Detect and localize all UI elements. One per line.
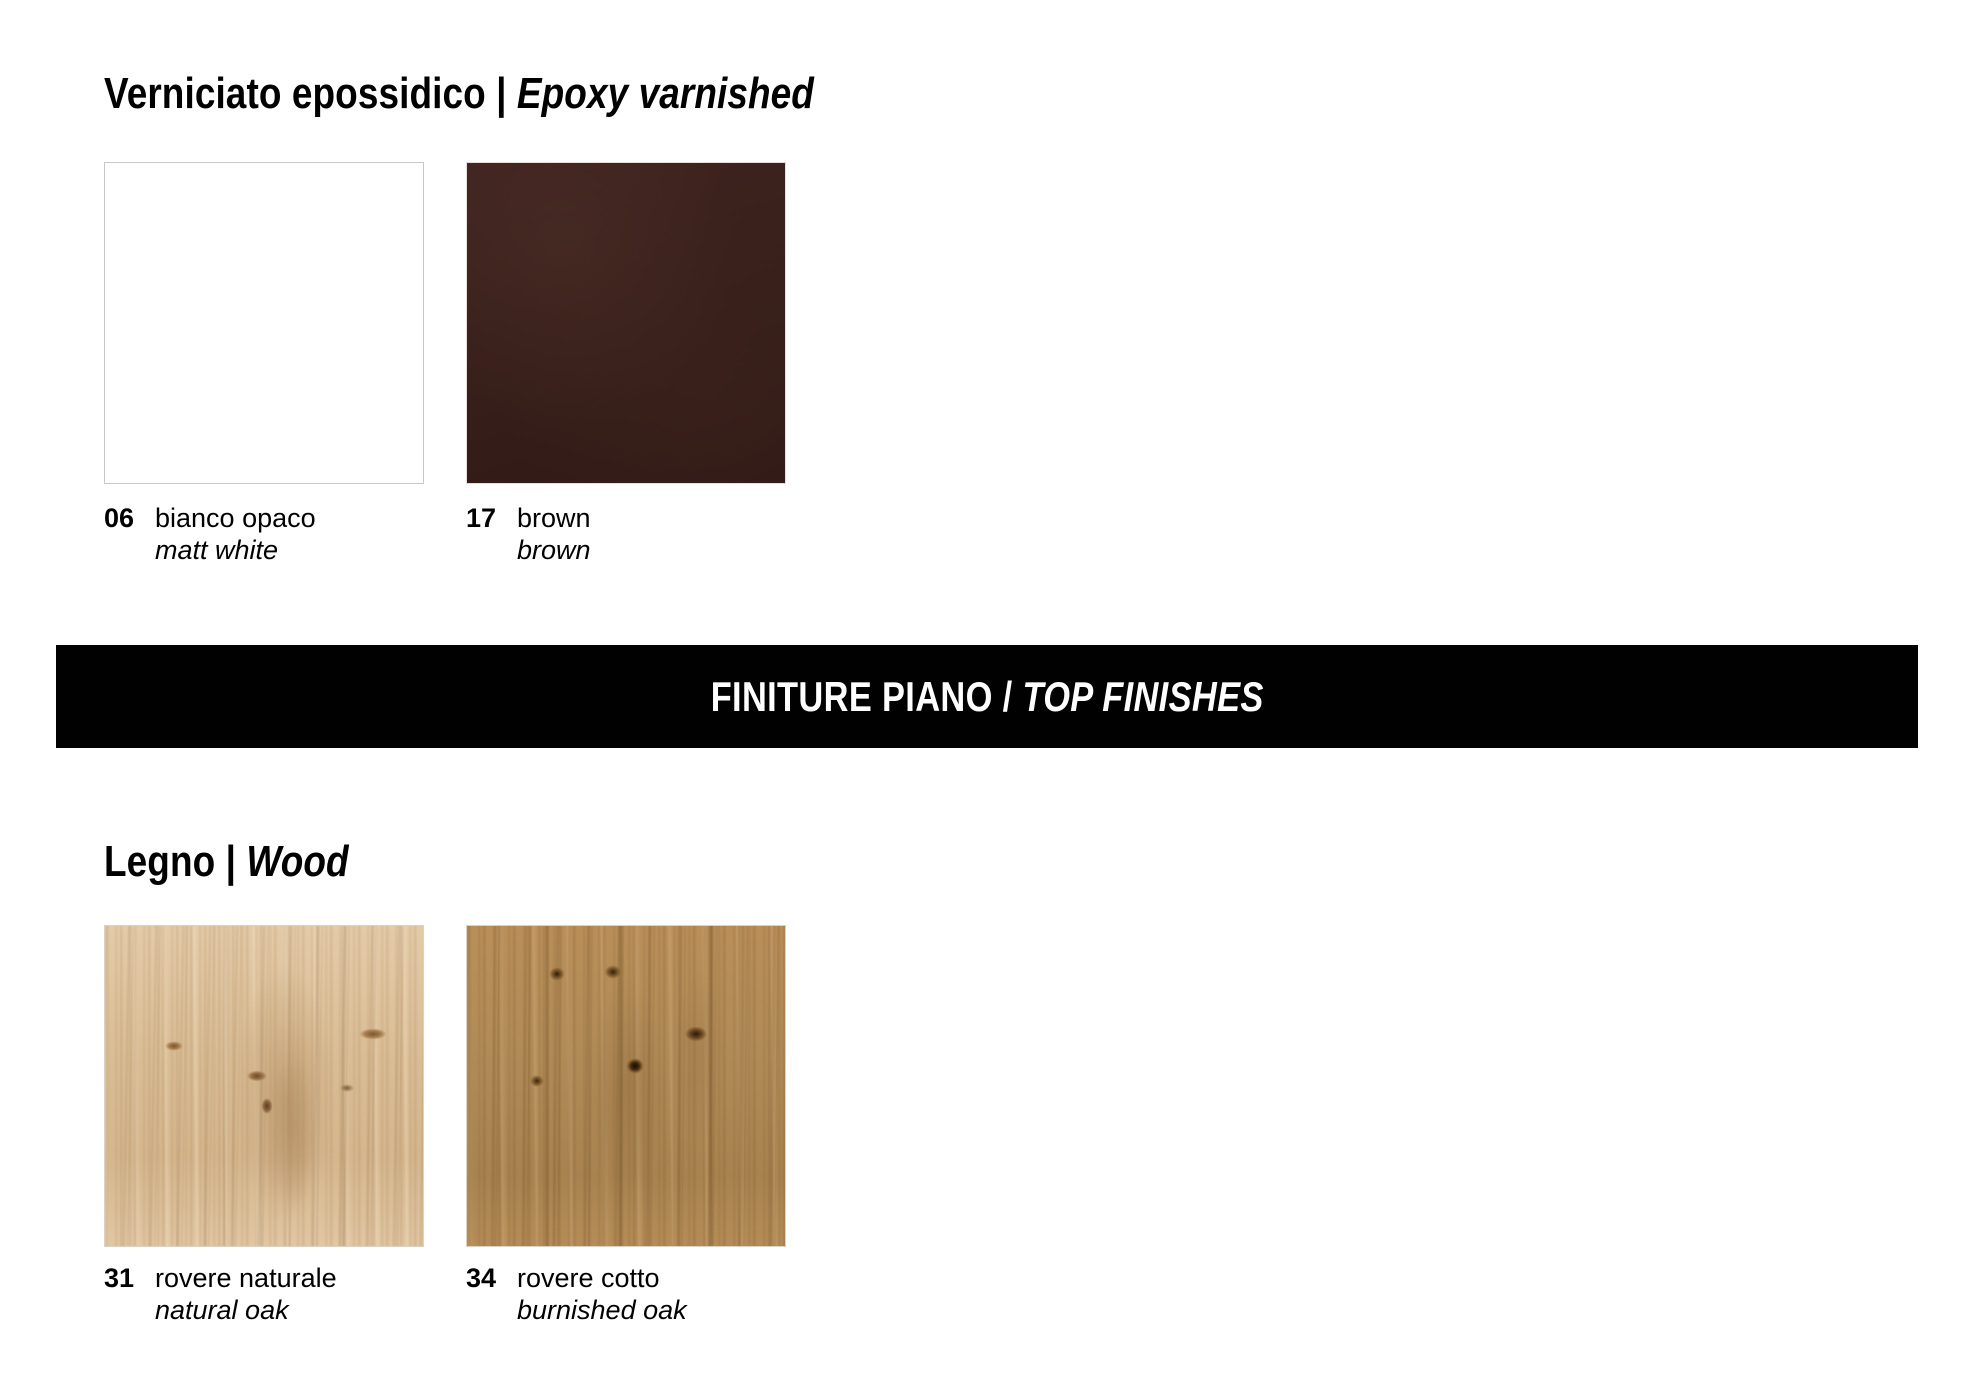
section-heading-wood: Legno | Wood [104,840,349,884]
section-heading-epoxy-separator: | [496,69,506,118]
swatch-code-31: 31 [104,1262,155,1294]
swatch-caption-34: 34 rovere cotto burnished oak [466,1262,687,1326]
swatch-name-en-06: matt white [155,534,316,566]
swatch-chip-rovere-cotto[interactable] [466,925,786,1247]
section-heading-wood-en: Wood [246,837,348,886]
swatch-block-34-rovere-cotto[interactable] [466,925,786,1247]
section-banner-separator: / [1002,673,1012,720]
swatch-names-34: rovere cotto burnished oak [517,1262,687,1326]
swatch-code-06: 06 [104,502,155,534]
swatch-name-it-34: rovere cotto [517,1262,687,1294]
section-heading-wood-separator: | [226,837,236,886]
section-heading-epoxy-varnished: Verniciato epossidico | Epoxy varnished [104,72,814,116]
section-heading-epoxy-en: Epoxy varnished [517,69,814,118]
section-banner-text-it: FINITURE PIANO [711,673,993,720]
swatch-names-17: brown brown [517,502,591,566]
swatch-name-it-31: rovere naturale [155,1262,337,1294]
swatch-caption-31: 31 rovere naturale natural oak [104,1262,337,1326]
swatch-caption-17: 17 brown brown [466,502,591,566]
section-heading-wood-it: Legno [104,837,215,886]
swatch-name-en-17: brown [517,534,591,566]
swatch-caption-06: 06 bianco opaco matt white [104,502,316,566]
section-banner-text-en: TOP FINISHES [1022,673,1263,720]
swatch-name-it-06: bianco opaco [155,502,316,534]
swatch-block-31-rovere-naturale[interactable] [104,925,424,1247]
swatch-names-31: rovere naturale natural oak [155,1262,337,1326]
section-heading-epoxy-it: Verniciato epossidico [104,69,486,118]
swatch-name-it-17: brown [517,502,591,534]
swatch-chip-brown[interactable] [466,162,786,484]
section-banner-top-finishes: FINITURE PIANO / TOP FINISHES [56,645,1918,748]
swatch-code-17: 17 [466,502,517,534]
swatch-name-en-34: burnished oak [517,1294,687,1326]
swatch-chip-rovere-naturale[interactable] [104,925,424,1247]
swatch-name-en-31: natural oak [155,1294,337,1326]
swatch-code-34: 34 [466,1262,517,1294]
section-banner-text: FINITURE PIANO / TOP FINISHES [711,676,1264,718]
swatch-names-06: bianco opaco matt white [155,502,316,566]
swatch-chip-bianco-opaco[interactable] [104,162,424,484]
swatch-block-17-brown[interactable] [466,162,786,484]
swatch-block-06-bianco-opaco[interactable] [104,162,424,484]
